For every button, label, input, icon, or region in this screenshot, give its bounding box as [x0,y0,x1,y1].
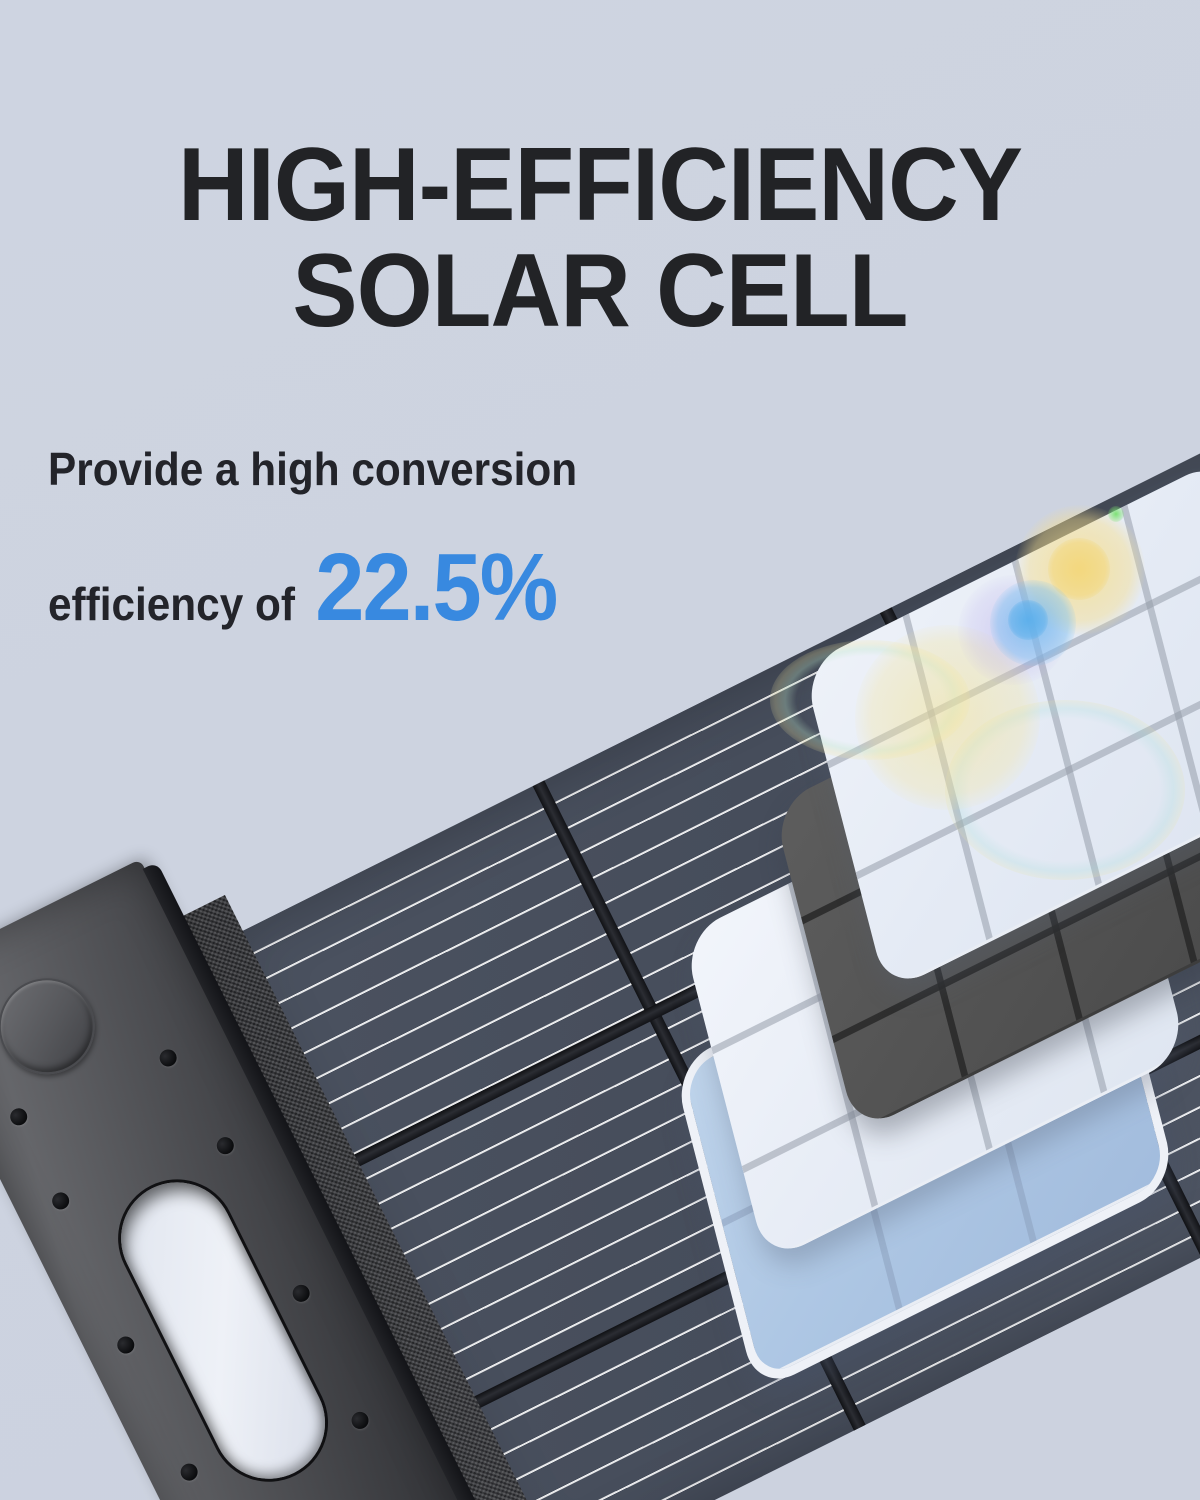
callout-line-2-prefix: efficiency of [48,577,295,631]
efficiency-percent-value: 22.5% [315,540,556,636]
carry-handle-slot [102,1163,344,1498]
frame-bolt [290,1282,313,1305]
frame-bolt [114,1334,137,1357]
frame-bolt [349,1409,372,1432]
callout-line-1: Provide a high conversion [48,442,577,496]
product-poster: HIGH-EFFICIENCY SOLAR CELL Provide a hig… [0,0,1200,1500]
page-title: HIGH-EFFICIENCY SOLAR CELL [36,132,1164,344]
frame-bolt [49,1190,72,1213]
frame-bolt [7,1105,30,1128]
frame-bolt [214,1134,237,1157]
callout-line-2: efficiency of 22.5% [48,540,556,636]
frame-grommet [0,962,111,1091]
frame-bolt [157,1047,180,1070]
frame-bolt [178,1461,201,1484]
